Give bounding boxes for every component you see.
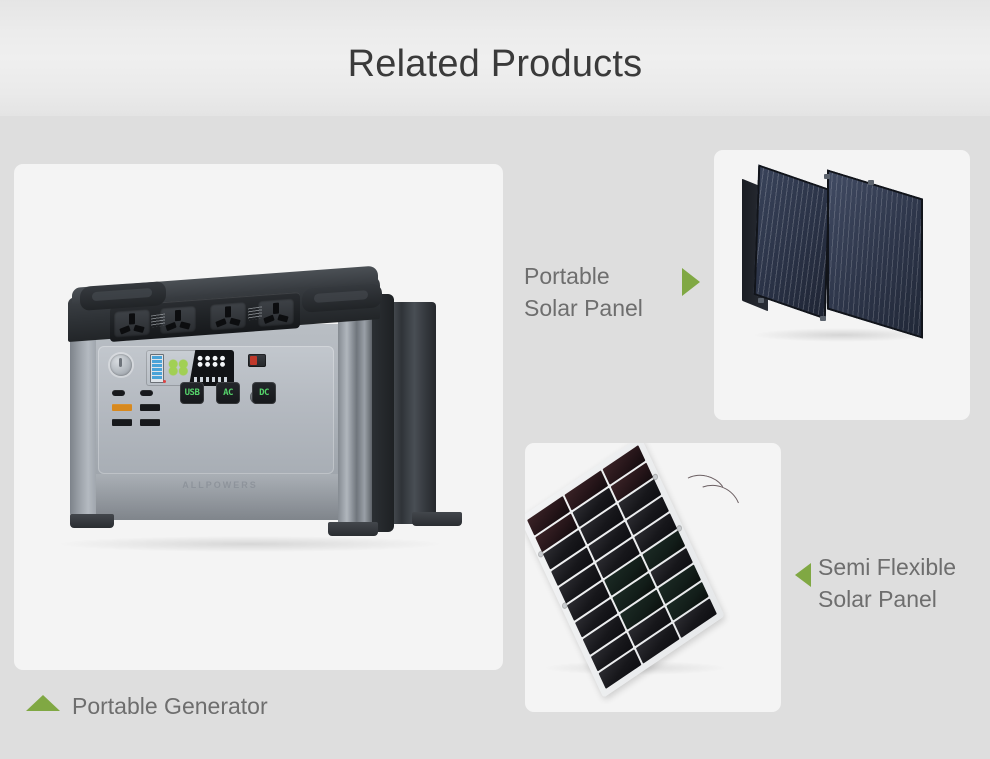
generator-foot [412, 512, 462, 526]
lcd-digits [196, 355, 230, 368]
usb-c-port[interactable] [112, 390, 125, 396]
flexible-panel-assembly [549, 469, 759, 675]
caption-portable-generator: Portable Generator [72, 691, 372, 721]
lcd-readout-area [189, 350, 234, 386]
lcd-status-indicators [166, 356, 190, 376]
semi-flexible-solar-panel-image [525, 443, 781, 712]
usb-port-column-left [112, 390, 134, 434]
usb-port-column-right [140, 390, 162, 434]
generator-power-knob[interactable] [110, 354, 132, 376]
solar-panel-hinge-clip [868, 180, 874, 185]
generator-left-rail [70, 324, 96, 520]
usb-a-port[interactable] [112, 419, 132, 426]
usb-a-port[interactable] [140, 419, 160, 426]
product-card-portable-generator[interactable]: USB AC DC ALLPOWERS [14, 164, 503, 670]
solar-panel-corner-clip [820, 316, 826, 321]
caption-portable-solar-panel: Portable Solar Panel [524, 260, 674, 324]
ac-outlet[interactable] [258, 298, 294, 327]
usb-a-port[interactable] [140, 404, 160, 411]
triangle-left-icon [795, 563, 811, 587]
triangle-right-icon [682, 268, 700, 296]
portable-generator-image: USB AC DC ALLPOWERS [14, 164, 503, 670]
triangle-up-icon [26, 695, 60, 711]
generator-right-rail [338, 316, 372, 524]
ac-outlet-rating-label [151, 313, 165, 327]
related-products-page: Related Products [0, 0, 990, 759]
usb-c-port[interactable] [140, 390, 153, 396]
page-title: Related Products [0, 41, 990, 87]
portable-solar-panel-image [714, 150, 970, 420]
generator-lcd-display [146, 350, 234, 386]
solar-panel-wing-left [754, 164, 831, 319]
solar-panel-corner-clip [758, 298, 764, 303]
panel-mount-grommet [677, 525, 682, 531]
usb-power-button[interactable]: USB [180, 382, 204, 404]
caption-semi-flexible-solar-panel: Semi Flexible Solar Panel [818, 551, 983, 615]
solar-panel-wing-right [827, 169, 923, 338]
solar-panel-hinge-clip [824, 174, 830, 179]
ac-power-button[interactable]: AC [216, 382, 240, 404]
ac-outlet[interactable] [160, 306, 196, 335]
dc-power-button[interactable]: DC [252, 382, 276, 404]
lcd-warning-dot [163, 380, 166, 383]
battery-level-icon [150, 354, 164, 383]
ac-outlet[interactable] [210, 302, 246, 331]
page-header: Related Products [0, 0, 990, 116]
panel-mount-grommet [653, 474, 658, 480]
ac-outlet-rating-label [248, 306, 262, 320]
usb-a-quick-charge-port[interactable] [112, 404, 132, 411]
generator-foot [70, 514, 114, 528]
product-card-portable-solar-panel[interactable] [714, 150, 970, 420]
generator-brand-logo: ALLPOWERS [150, 480, 290, 490]
ac-outlet[interactable] [114, 309, 150, 338]
generator-unit: USB AC DC ALLPOWERS [62, 284, 442, 546]
product-card-semi-flexible-solar-panel[interactable] [525, 443, 781, 712]
generator-rocker-switch[interactable] [248, 354, 266, 367]
generator-foot [328, 522, 378, 536]
